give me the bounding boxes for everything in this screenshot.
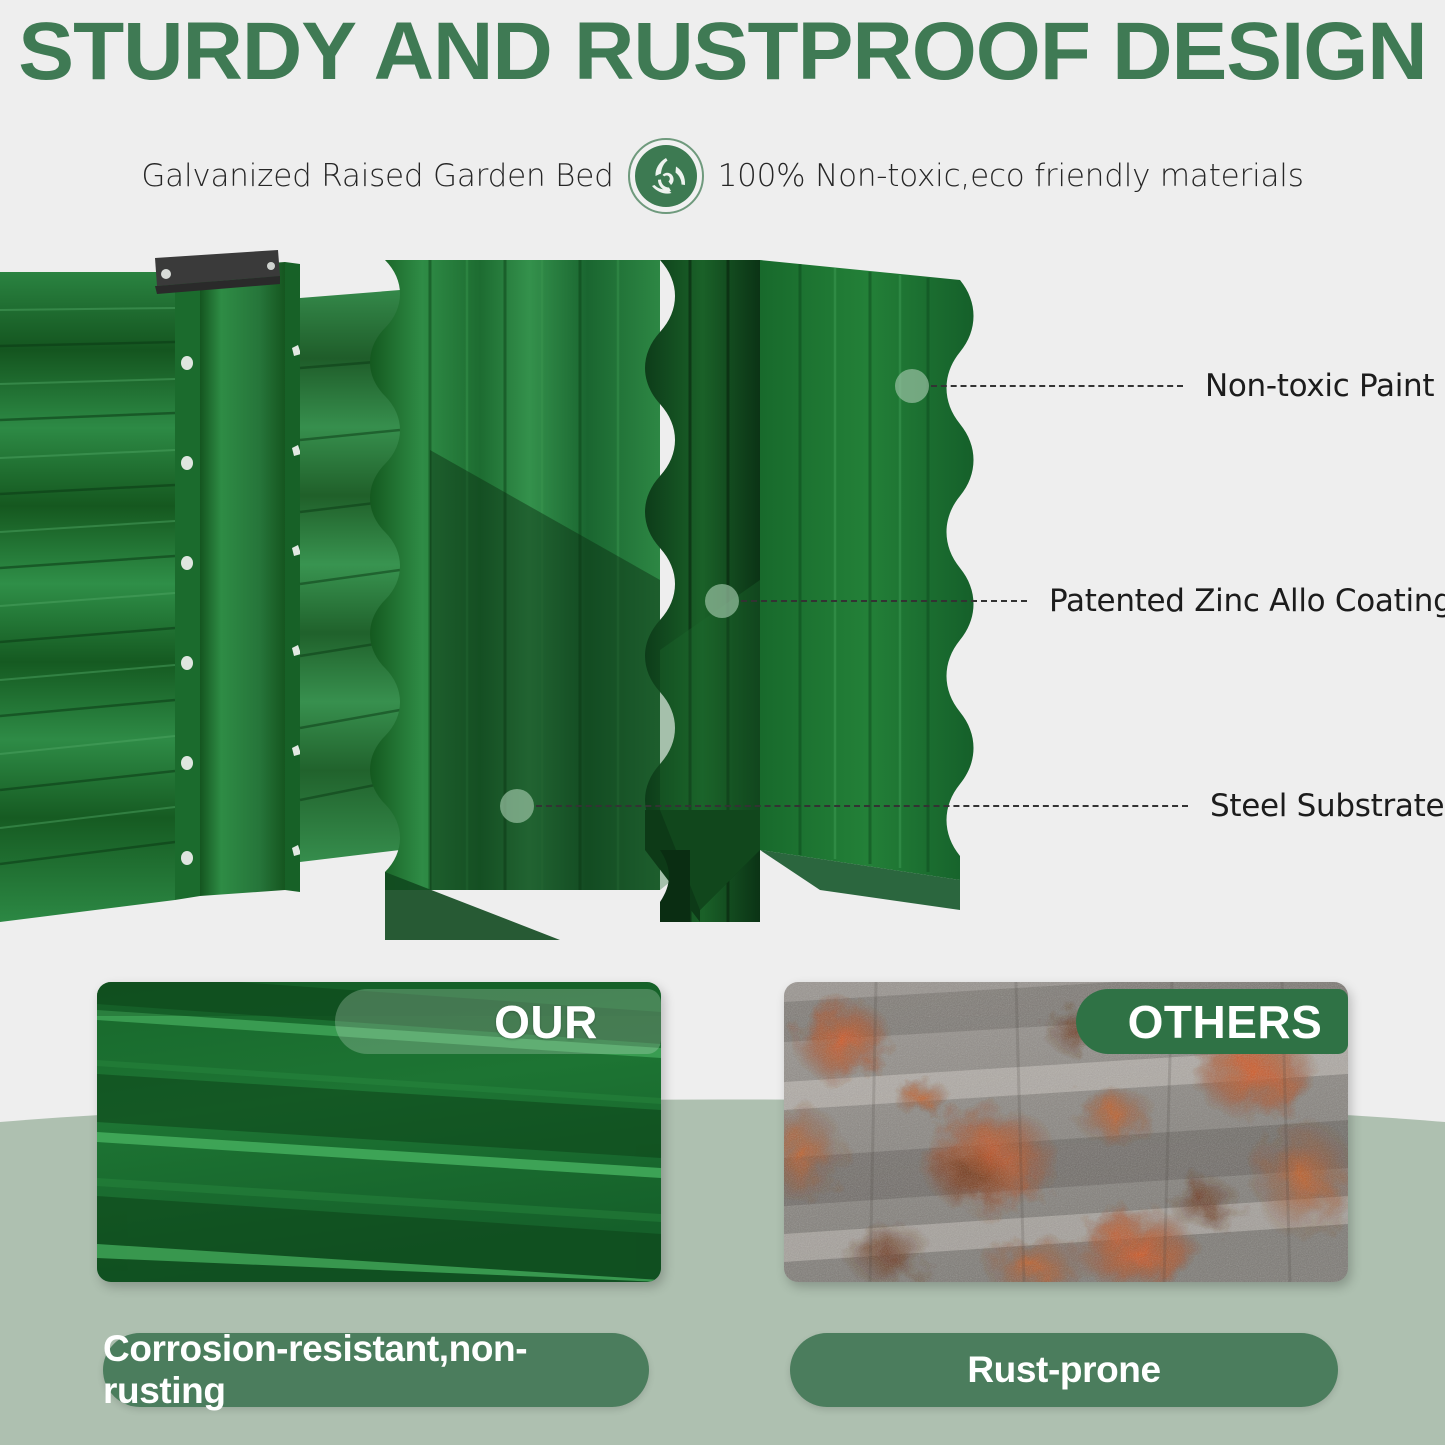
subtitle-left: Galvanized Raised Garden Bed xyxy=(141,158,613,194)
corner-post xyxy=(200,262,301,896)
callout-label: Non-toxic Paint xyxy=(1205,368,1434,404)
badge-others-label: OTHERS xyxy=(1128,995,1323,1049)
subtitle-right: 100% Non-toxic,eco friendly materials xyxy=(718,158,1304,194)
comparison-card-our: OUR xyxy=(97,982,661,1282)
infographic-canvas: STURDY AND RUSTPROOF DESIGN Galvanized R… xyxy=(0,0,1445,1445)
right-wing-panel xyxy=(760,260,974,880)
callout-dot-icon xyxy=(895,369,929,403)
comparison-card-others: OTHERS xyxy=(784,982,1348,1282)
caption-pill-others: Rust-prone xyxy=(790,1333,1338,1407)
callout-steel-substrate: Steel Substrate xyxy=(500,788,1444,824)
callout-dot-icon xyxy=(705,584,739,618)
callout-leader-line xyxy=(536,805,1188,807)
caption-pill-our: Corrosion-resistant,non-rusting xyxy=(103,1333,649,1407)
callout-leader-line xyxy=(741,600,1027,602)
callout-leader-line xyxy=(931,385,1183,387)
page-title: STURDY AND RUSTPROOF DESIGN xyxy=(0,6,1445,98)
eco-recycle-leaf-icon xyxy=(628,138,704,214)
subtitle-row: Galvanized Raised Garden Bed 100% Non-to… xyxy=(0,138,1445,214)
callout-zinc-coating: Patented Zinc Allo Coating xyxy=(705,583,1445,619)
caption-others-label: Rust-prone xyxy=(967,1349,1160,1391)
callout-dot-icon xyxy=(500,789,534,823)
callout-non-toxic-paint: Non-toxic Paint xyxy=(895,368,1434,404)
badge-our: OUR xyxy=(335,989,661,1054)
badge-our-label: OUR xyxy=(494,995,598,1049)
caption-our-label: Corrosion-resistant,non-rusting xyxy=(103,1328,649,1412)
left-corrugated-panel xyxy=(0,268,200,922)
badge-others: OTHERS xyxy=(1076,989,1348,1054)
callout-label: Patented Zinc Allo Coating xyxy=(1049,583,1445,619)
callout-label: Steel Substrate xyxy=(1210,788,1444,824)
